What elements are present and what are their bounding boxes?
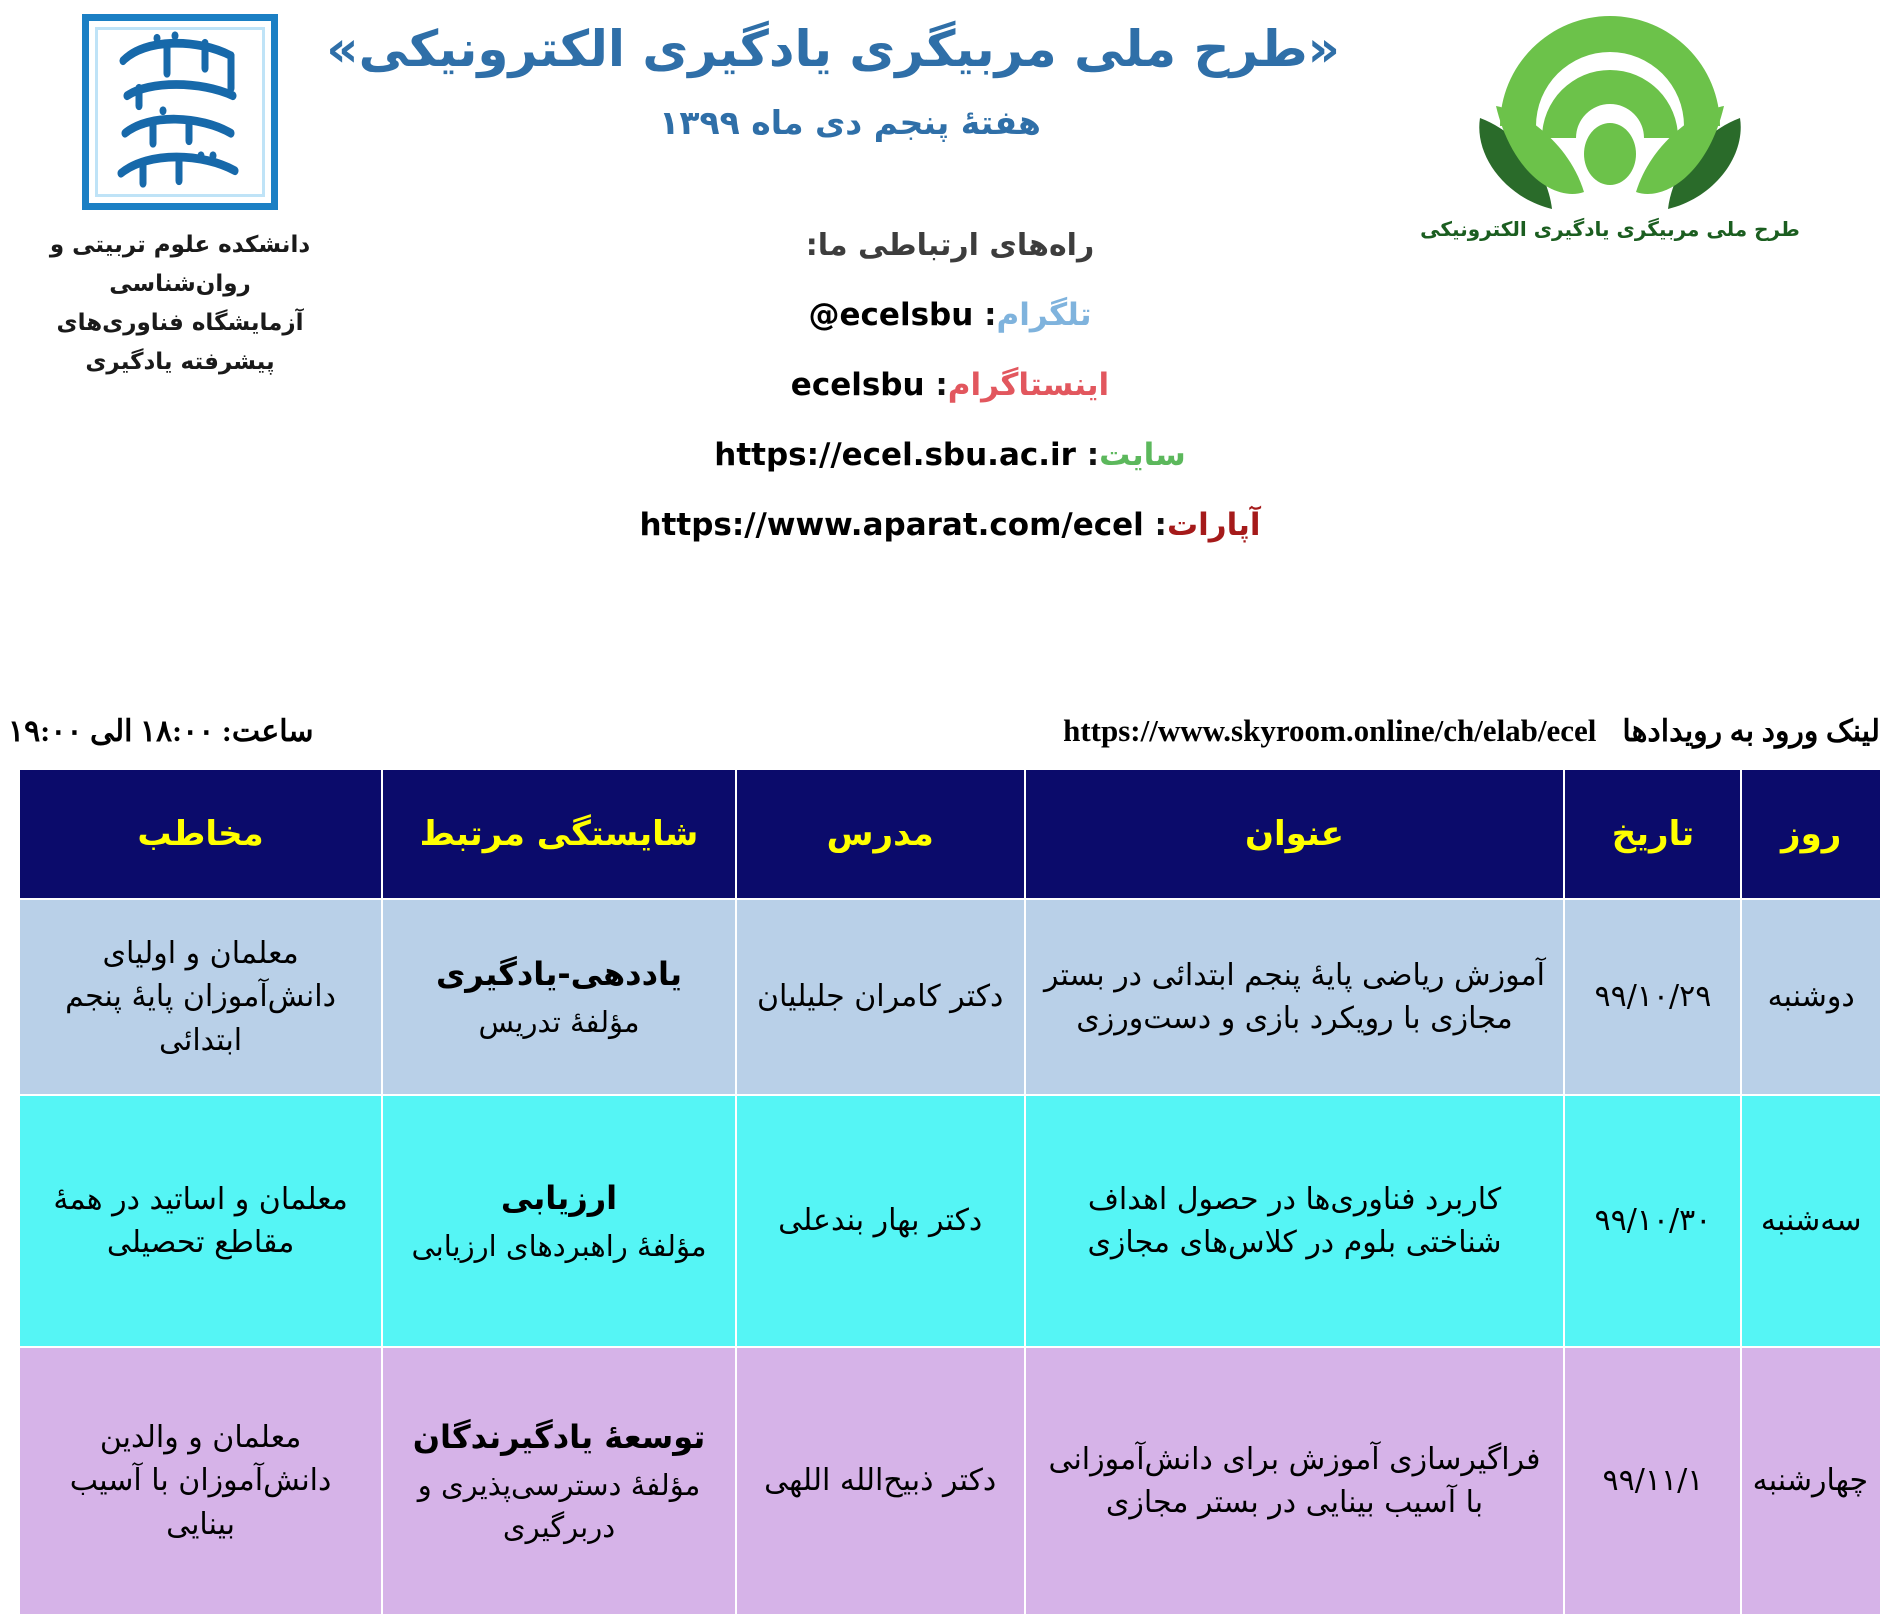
instagram-handle[interactable]: ecelsbu bbox=[791, 367, 925, 403]
skyroom-url[interactable]: https://www.skyroom.online/ch/elab/ecel bbox=[1063, 713, 1596, 749]
competency-sub: مؤلفهٔ دسترسی‌پذیری و دربرگیری bbox=[395, 1464, 723, 1548]
table-body: دوشنبه ۹۹/۱۰/۲۹ آموزش ریاضی پایهٔ پنجم ا… bbox=[19, 899, 1881, 1615]
table-header-row: روز تاریخ عنوان مدرس شایستگی مرتبط مخاطب bbox=[19, 769, 1881, 899]
table-head: روز تاریخ عنوان مدرس شایستگی مرتبط مخاطب bbox=[19, 769, 1881, 899]
university-calligraphy-icon bbox=[105, 18, 255, 206]
site-label: سایت bbox=[1099, 437, 1186, 473]
cell-competency: ارزیابی مؤلفهٔ راهبردهای ارزیابی bbox=[382, 1095, 736, 1347]
cell-instructor: دکتر کامران جلیلیان bbox=[736, 899, 1025, 1095]
site-colon: : bbox=[1076, 437, 1099, 473]
instagram-label: اینستاگرام bbox=[948, 367, 1109, 403]
schedule-table: روز تاریخ عنوان مدرس شایستگی مرتبط مخاطب… bbox=[18, 768, 1882, 1616]
table-row: دوشنبه ۹۹/۱۰/۲۹ آموزش ریاضی پایهٔ پنجم ا… bbox=[19, 899, 1881, 1095]
column-header-day[interactable]: روز bbox=[1741, 769, 1881, 899]
column-header-competency[interactable]: شایستگی مرتبط bbox=[382, 769, 736, 899]
cell-day: چهارشنبه bbox=[1741, 1347, 1881, 1615]
poster-header: دانشکده علوم تربیتی و روان‌شناسی آزمایشگ… bbox=[0, 0, 1900, 640]
contact-row-telegram: تلگرام: @ecelsbu bbox=[0, 297, 1900, 333]
shahid-beheshti-university-logo-icon bbox=[82, 14, 278, 210]
table-row: چهارشنبه ۹۹/۱۱/۱ فراگیرسازی آموزش برای د… bbox=[19, 1347, 1881, 1615]
contact-heading: راه‌های ارتباطی ما: bbox=[0, 228, 1900, 263]
cell-day: دوشنبه bbox=[1741, 899, 1881, 1095]
telegram-colon: : bbox=[973, 297, 996, 333]
events-link-group: لینک ورود به رویدادها https://www.skyroo… bbox=[1063, 713, 1880, 749]
session-time-text: ساعت: ۱۸:۰۰ الی ۱۹:۰۰ bbox=[8, 714, 314, 749]
site-url[interactable]: https://ecel.sbu.ac.ir bbox=[714, 437, 1076, 473]
aparat-label: آپارات bbox=[1167, 507, 1261, 543]
instagram-colon: : bbox=[925, 367, 948, 403]
cell-date: ۹۹/۱۰/۳۰ bbox=[1564, 1095, 1741, 1347]
aparat-url[interactable]: https://www.aparat.com/ecel bbox=[639, 507, 1143, 543]
competency-sub: مؤلفهٔ تدریس bbox=[395, 1001, 723, 1043]
contact-block: راه‌های ارتباطی ما: تلگرام: @ecelsbu این… bbox=[0, 228, 1900, 577]
contact-row-site: سایت: https://ecel.sbu.ac.ir bbox=[0, 437, 1900, 473]
contact-row-instagram: اینستاگرام: ecelsbu bbox=[0, 367, 1900, 403]
telegram-handle[interactable]: @ecelsbu bbox=[809, 297, 974, 333]
link-and-time-bar: لینک ورود به رویدادها https://www.skyroo… bbox=[0, 700, 1900, 762]
cell-instructor: دکتر ذبیح‌الله اللهی bbox=[736, 1347, 1025, 1615]
column-header-instructor[interactable]: مدرس bbox=[736, 769, 1025, 899]
ecel-logo-graphic-icon bbox=[1460, 6, 1760, 211]
column-header-title[interactable]: عنوان bbox=[1025, 769, 1565, 899]
cell-audience: معلمان و اولیای دانش‌آموزان پایهٔ پنجم ا… bbox=[19, 899, 382, 1095]
cell-day: سه‌شنبه bbox=[1741, 1095, 1881, 1347]
ecel-logo-block: طرح ملی مربیگری یادگیری الکترونیکی bbox=[1330, 6, 1890, 241]
cell-title: آموزش ریاضی پایهٔ پنجم ابتدائی در بستر م… bbox=[1025, 899, 1565, 1095]
aparat-colon: : bbox=[1144, 507, 1167, 543]
poster-page: دانشکده علوم تربیتی و روان‌شناسی آزمایشگ… bbox=[0, 0, 1900, 1620]
cell-title: فراگیرسازی آموزش برای دانش‌آموزانی با آس… bbox=[1025, 1347, 1565, 1615]
cell-title: کاربرد فناوری‌ها در حصول اهداف شناختی بل… bbox=[1025, 1095, 1565, 1347]
cell-audience: معلمان و والدین دانش‌آموزان با آسیب بینا… bbox=[19, 1347, 382, 1615]
competency-main: توسعهٔ یادگیرندگان bbox=[395, 1414, 723, 1460]
column-header-audience[interactable]: مخاطب bbox=[19, 769, 382, 899]
schedule-table-wrapper: روز تاریخ عنوان مدرس شایستگی مرتبط مخاطب… bbox=[18, 768, 1882, 1612]
competency-main: یاددهی-یادگیری bbox=[395, 951, 723, 997]
cell-competency: یاددهی-یادگیری مؤلفهٔ تدریس bbox=[382, 899, 736, 1095]
events-link-label: لینک ورود به رویدادها bbox=[1622, 714, 1880, 749]
table-row: سه‌شنبه ۹۹/۱۰/۳۰ کاربرد فناوری‌ها در حصو… bbox=[19, 1095, 1881, 1347]
contact-row-aparat: آپارات: https://www.aparat.com/ecel bbox=[0, 507, 1900, 543]
telegram-label: تلگرام bbox=[997, 297, 1092, 333]
column-header-date[interactable]: تاریخ bbox=[1564, 769, 1741, 899]
competency-main: ارزیابی bbox=[395, 1175, 723, 1221]
cell-audience: معلمان و اساتید در همهٔ مقاطع تحصیلی bbox=[19, 1095, 382, 1347]
competency-sub: مؤلفهٔ راهبردهای ارزیابی bbox=[395, 1225, 723, 1267]
page-title: «طرح ملی مربیگری یادگیری الکترونیکی» bbox=[360, 18, 1340, 81]
cell-date: ۹۹/۱۱/۱ bbox=[1564, 1347, 1741, 1615]
page-subtitle: هفتهٔ پنجم دی ماه ۱۳۹۹ bbox=[360, 103, 1340, 142]
cell-instructor: دکتر بهار بندعلی bbox=[736, 1095, 1025, 1347]
ecel-logo-icon bbox=[1460, 6, 1760, 211]
cell-competency: توسعهٔ یادگیرندگان مؤلفهٔ دسترسی‌پذیری و… bbox=[382, 1347, 736, 1615]
title-block: «طرح ملی مربیگری یادگیری الکترونیکی» هفت… bbox=[360, 18, 1340, 142]
cell-date: ۹۹/۱۰/۲۹ bbox=[1564, 899, 1741, 1095]
